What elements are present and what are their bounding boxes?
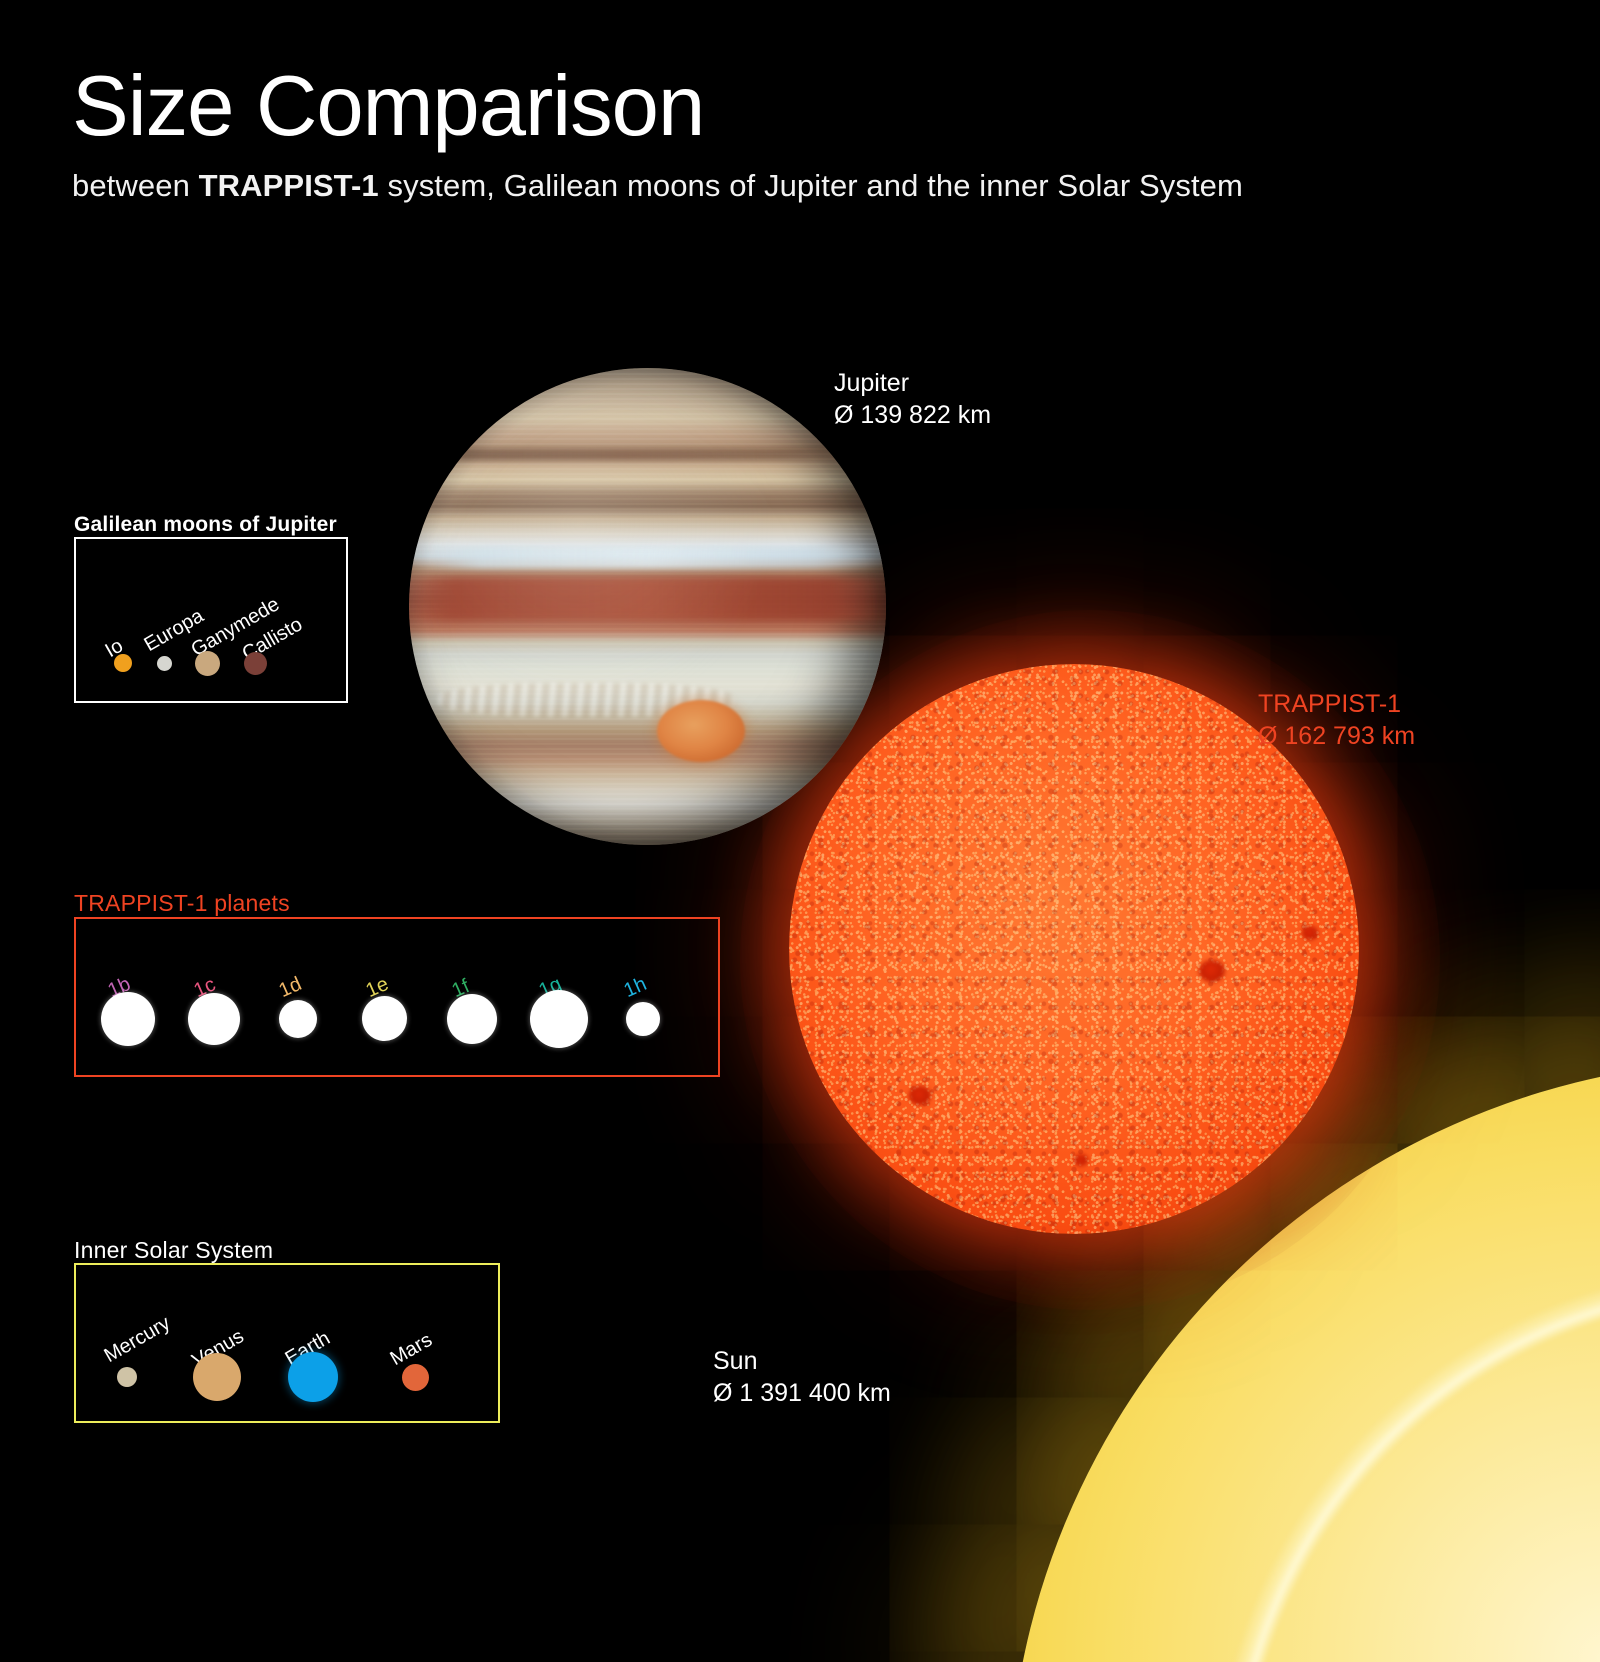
- sun-diameter: Ø 1 391 400 km: [713, 1377, 891, 1409]
- trappist-1-name: TRAPPIST-1: [1258, 690, 1401, 718]
- inner-solar-system-group-title: Inner Solar System: [74, 1237, 273, 1264]
- planet-dot-mars: [402, 1364, 429, 1391]
- trappist-planet-disc-1e: [362, 996, 407, 1041]
- page-subtitle: between TRAPPIST-1 system, Galilean moon…: [72, 167, 1492, 206]
- page-title: Size Comparison: [72, 64, 1492, 149]
- planet-dot-mercury: [117, 1367, 137, 1387]
- moon-dot-io: [114, 654, 132, 672]
- trappist-planet-disc-1c: [188, 993, 240, 1045]
- trappist-1-label: TRAPPIST-1 Ø 162 793 km: [1258, 688, 1415, 752]
- infographic-canvas: Jupiter Ø 139 822 km TRAPPIST-1 Ø 162 79…: [0, 0, 1600, 1662]
- jupiter-diameter: Ø 139 822 km: [834, 399, 991, 431]
- moon-dot-europa: [157, 656, 172, 671]
- trappist-planet-disc-1g: [530, 990, 588, 1048]
- subtitle-post: system, Galilean moons of Jupiter and th…: [379, 168, 1243, 203]
- trappist-1-diameter: Ø 162 793 km: [1258, 720, 1415, 752]
- jupiter-name: Jupiter: [834, 369, 909, 397]
- jupiter-disc: [409, 368, 886, 845]
- trappist-planet-disc-1h: [626, 1002, 660, 1036]
- sun-label: Sun Ø 1 391 400 km: [713, 1345, 891, 1409]
- galilean-moons-group-box: [74, 537, 348, 703]
- planet-dot-earth: [288, 1352, 338, 1402]
- trappist-planet-disc-1d: [279, 1000, 317, 1038]
- subtitle-emphasis: TRAPPIST-1: [199, 168, 379, 203]
- jupiter-dark-spot: [800, 409, 826, 418]
- header: Size Comparison between TRAPPIST-1 syste…: [72, 64, 1492, 206]
- moon-dot-callisto: [244, 652, 267, 675]
- moon-dot-ganymede: [195, 651, 220, 676]
- subtitle-pre: between: [72, 168, 199, 203]
- planet-dot-venus: [193, 1353, 241, 1401]
- trappist-1-planets-group-title: TRAPPIST-1 planets: [74, 890, 290, 917]
- jupiter-shading: [409, 368, 886, 845]
- trappist-planet-disc-1f: [447, 994, 497, 1044]
- trappist-1-planets-group-box: [74, 917, 720, 1077]
- sun-name: Sun: [713, 1347, 757, 1375]
- jupiter-label: Jupiter Ø 139 822 km: [834, 367, 991, 431]
- trappist-planet-disc-1b: [101, 992, 155, 1046]
- galilean-moons-group-title: Galilean moons of Jupiter: [74, 513, 337, 537]
